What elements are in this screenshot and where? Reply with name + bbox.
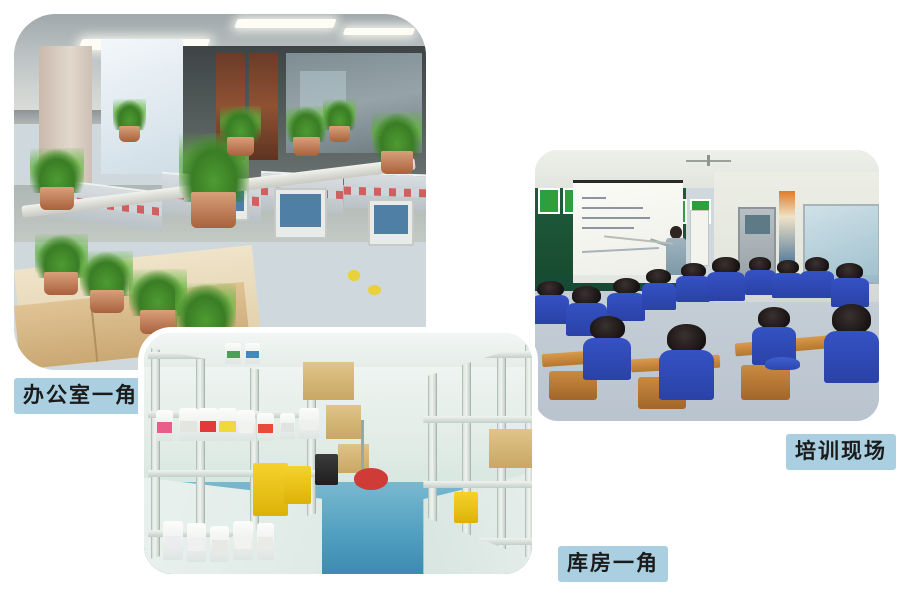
student [745,257,776,295]
yellow-flower [348,270,360,281]
chemical-bottle [210,526,229,562]
photo-storeroom[interactable] [138,327,538,580]
mop-handle [361,420,364,473]
caption-storeroom: 库房一角 [558,546,668,582]
photo-training[interactable] [528,143,886,428]
chemical-bottle [299,408,318,439]
chemical-bottle [225,343,241,365]
ceiling-fan-icon [686,155,731,166]
training-scene [535,150,879,421]
blue-cap [765,357,799,370]
student [707,257,745,301]
student [831,263,869,307]
chemical-bottle [198,408,217,442]
caption-training: 培训现场 [786,434,896,470]
chemical-bottle [245,343,261,365]
photo-collage: 办公室一角 [0,0,900,600]
chemical-bottle [233,521,252,560]
potted-plant [372,114,421,175]
potted-plant [80,253,134,314]
student [824,304,879,383]
student [642,269,676,310]
student [659,324,714,400]
cardboard-box [303,362,353,401]
mop-bucket [253,463,288,516]
student [676,263,710,303]
student-audience [535,275,879,421]
chemical-bottle [179,408,198,442]
student [535,281,569,325]
yellow-flower [368,285,380,296]
wall-sign [538,188,559,214]
student [583,316,631,380]
potted-plant [113,99,146,142]
potted-plant [286,107,327,157]
floor-buffer-pad [354,468,389,490]
student [800,257,834,298]
potted-plant [220,107,261,157]
mop-bucket [454,492,477,523]
mop-bucket [284,466,311,505]
student [772,260,803,298]
ceiling-lamp-icon [342,28,414,35]
chemical-bottle [156,410,173,441]
chemical-bottle [163,521,182,560]
chemical-bottle [257,523,274,559]
office-scene [14,14,426,370]
cardboard-box [489,429,532,468]
chemical-bottle [218,408,237,442]
cardboard-box [326,405,361,439]
chemical-bottle [280,413,296,440]
potted-plant [323,99,356,142]
ceiling-lamp-icon [235,19,337,28]
chair-back [741,365,789,400]
photo-office[interactable] [14,14,426,370]
chemical-bottle [187,523,206,562]
potted-plant [30,149,84,210]
cubicle-stripe [344,187,426,197]
storeroom-scene [144,333,532,574]
caption-office: 办公室一角 [14,378,147,414]
chemical-bottle [237,410,254,441]
floor-machine [315,454,338,485]
chemical-bottle [257,413,274,442]
